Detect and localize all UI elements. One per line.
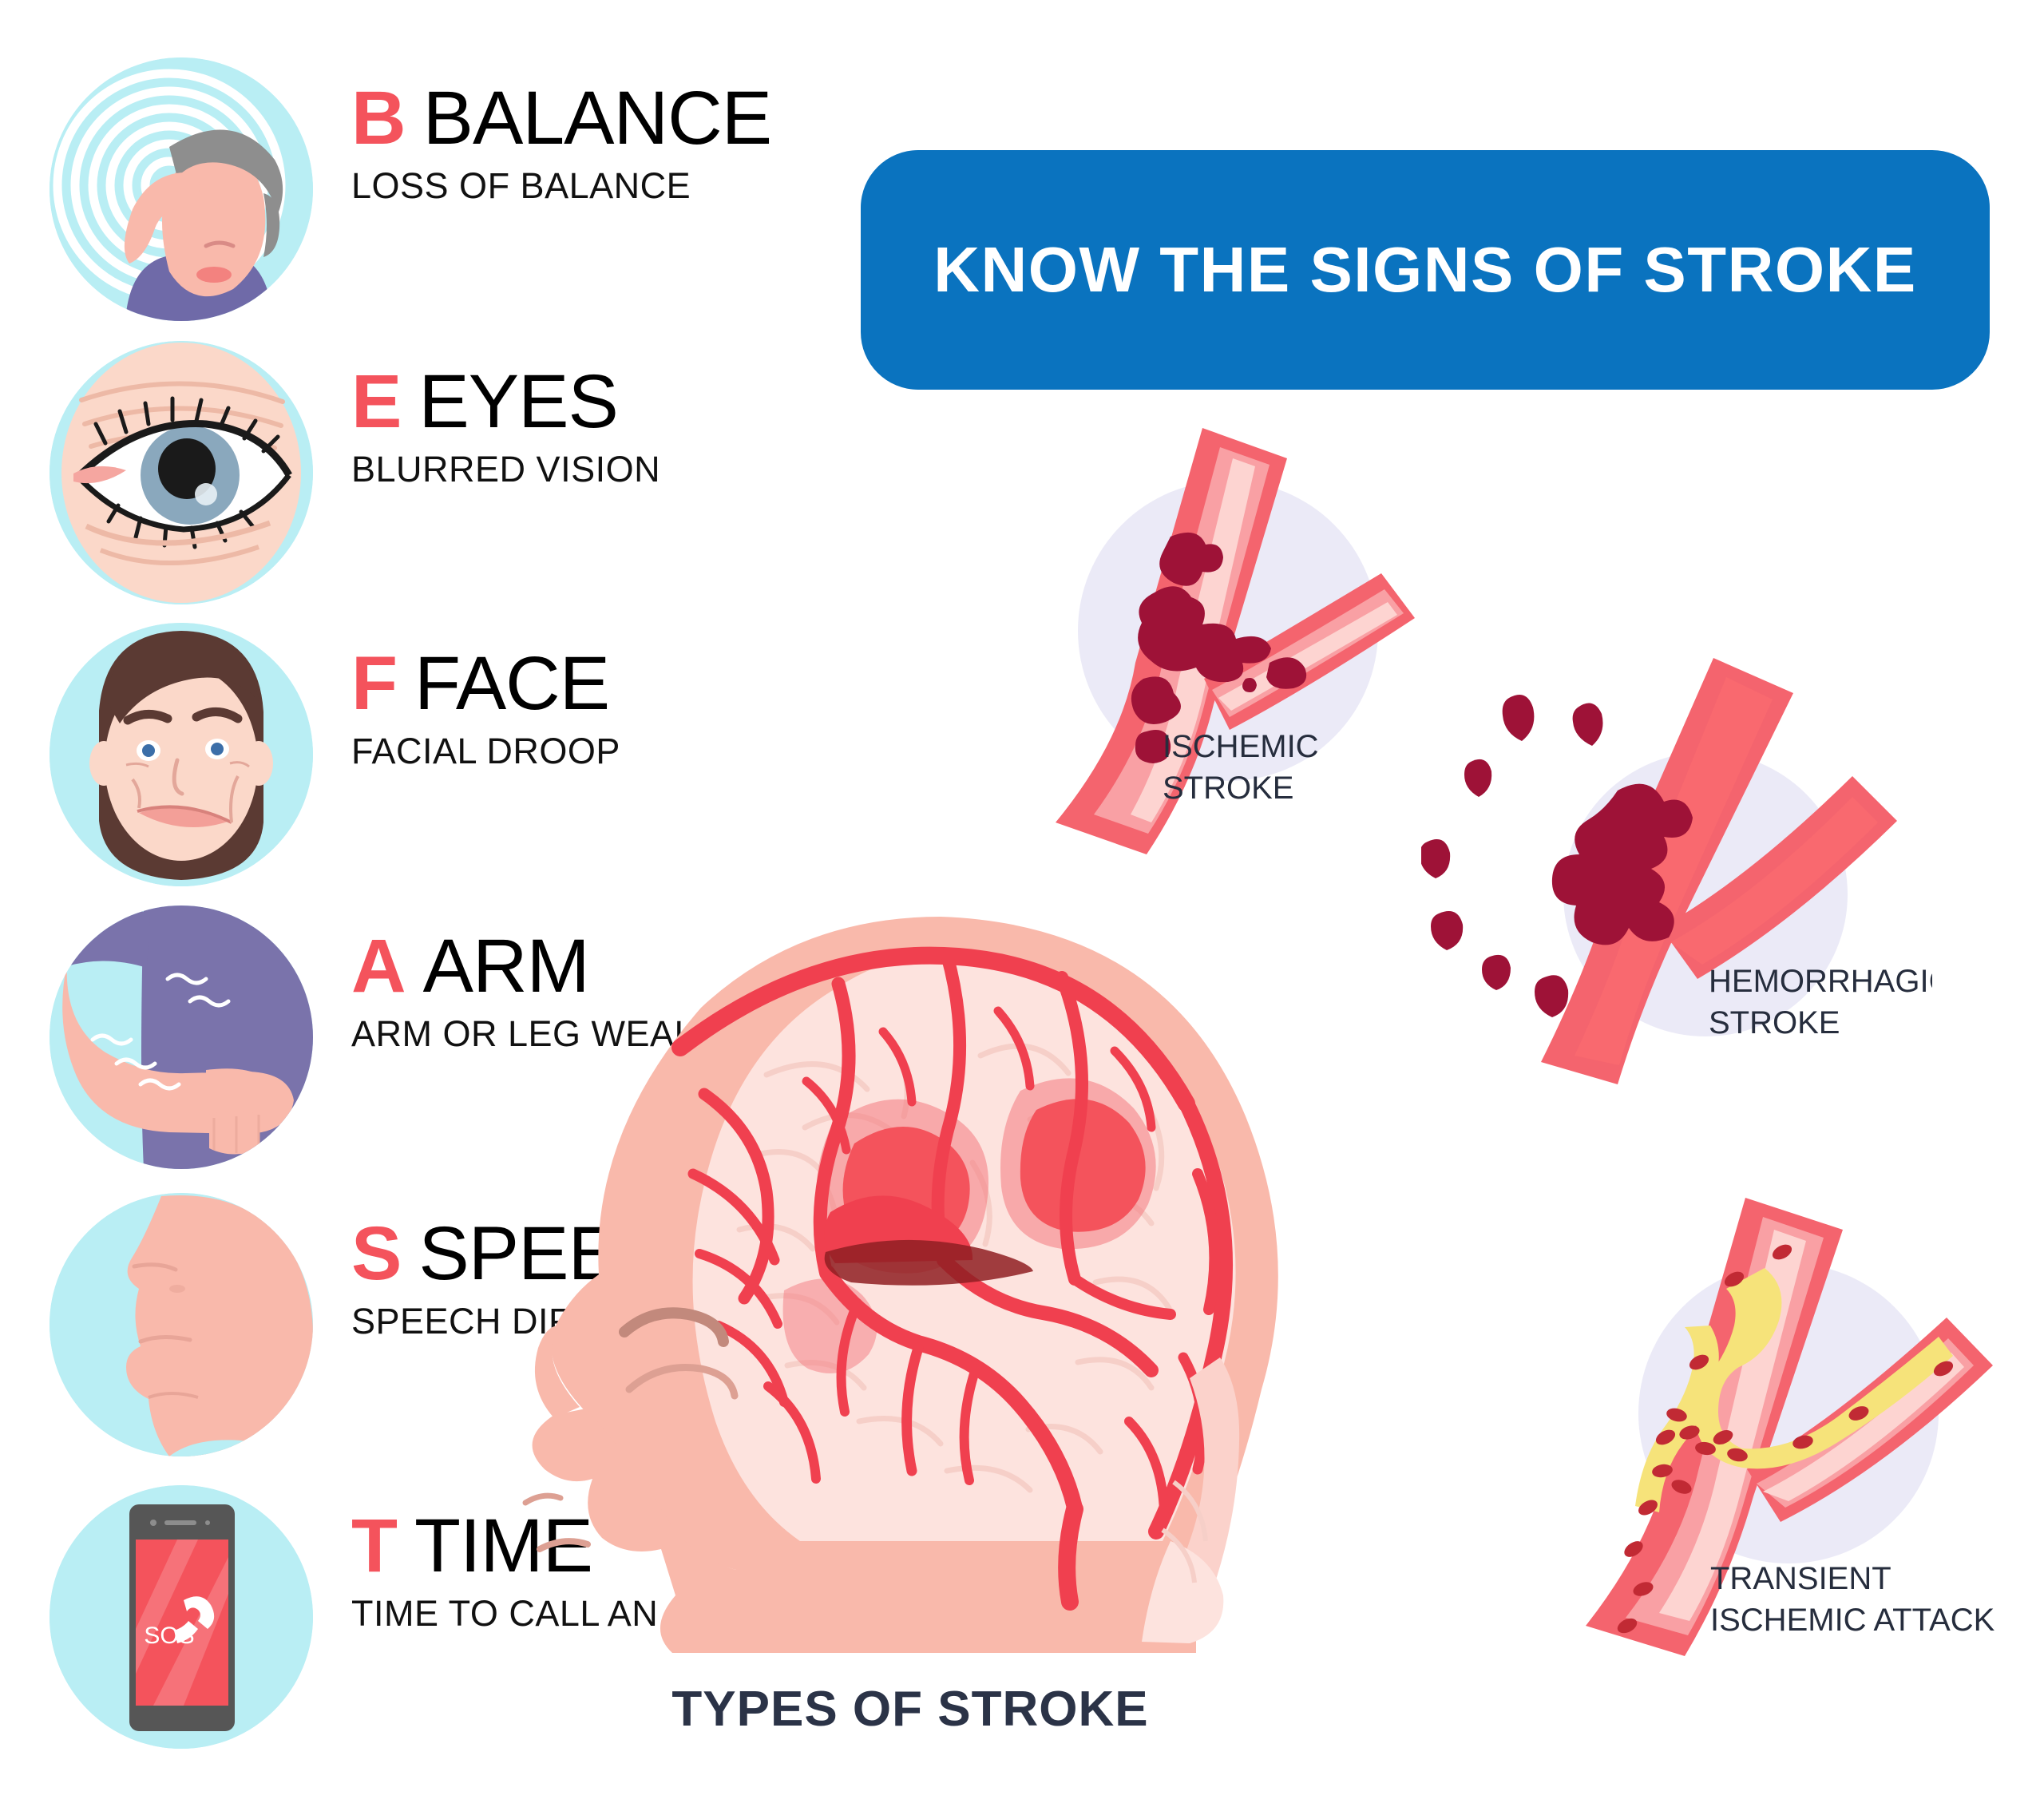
sign-letter: F [351, 641, 397, 726]
dizzy-woman-icon [50, 57, 313, 321]
sign-letter: B [351, 76, 406, 160]
sos-phone-icon: SOS [50, 1485, 313, 1749]
sign-title: BBALANCE [351, 81, 846, 156]
drooping-face-icon [50, 623, 313, 886]
sign-subtitle: BLURRED VISION [351, 449, 846, 490]
brain-stroke-illustration [503, 910, 1309, 1653]
blurred-eye-icon [50, 341, 313, 604]
hemorrhagic-label-line2: STROKE [1709, 1005, 1840, 1040]
sign-word: FACE [414, 641, 609, 726]
sign-title: FFACE [351, 647, 846, 721]
sign-word: EYES [418, 359, 617, 444]
sign-text-face: FFACE FACIAL DROOP [351, 647, 846, 772]
sign-text-balance: BBALANCE LOSS OF BALANCE [351, 81, 846, 207]
weak-arm-icon [50, 905, 313, 1169]
sign-letter: E [351, 359, 401, 444]
sign-subtitle: LOSS OF BALANCE [351, 165, 846, 207]
speaking-profile-icon [50, 1193, 313, 1456]
sign-letter: A [351, 924, 406, 1009]
sign-row-balance[interactable]: BBALANCE LOSS OF BALANCE [0, 48, 854, 327]
sign-subtitle: FACIAL DROOP [351, 731, 846, 772]
ischemic-label-line2: STROKE [1163, 771, 1293, 806]
hemorrhagic-label-line1: HEMORRHAGIC [1709, 964, 1932, 999]
sign-row-eyes[interactable]: EEYES BLURRED VISION [0, 331, 854, 611]
sign-letter: S [351, 1211, 401, 1296]
tia-label-line1: TRANSIENT [1710, 1561, 1891, 1596]
sign-title: EEYES [351, 365, 846, 439]
tia-label-line2: ISCHEMIC ATTACK [1710, 1603, 1995, 1638]
sign-text-eyes: EEYES BLURRED VISION [351, 365, 846, 490]
sign-letter: T [351, 1504, 397, 1588]
header-banner: KNOW THE SIGNS OF STROKE [861, 150, 1990, 390]
transient-ischemic-attack-illustration: TRANSIENT ISCHEMIC ATTACK [1525, 1174, 2044, 1669]
types-of-stroke-caption: TYPES OF STROKE [551, 1681, 1270, 1738]
stroke-types-panel: KNOW THE SIGNS OF STROKE ISCHEMIC STROKE [854, 0, 2044, 1811]
sign-word: BALANCE [423, 76, 772, 160]
hemorrhagic-stroke-illustration: HEMORRHAGIC STROKE [1421, 647, 1932, 1094]
banner-title: KNOW THE SIGNS OF STROKE [933, 233, 1917, 307]
sign-row-face[interactable]: FFACE FACIAL DROOP [0, 613, 854, 893]
ischemic-label-line1: ISCHEMIC [1163, 729, 1319, 764]
